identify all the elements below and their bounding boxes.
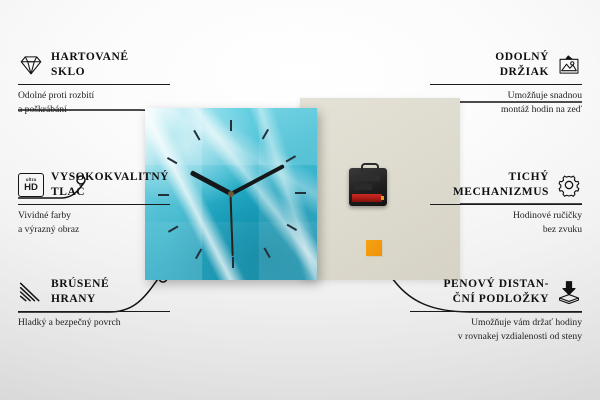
foam-spacer-pad (366, 240, 382, 256)
clock-center-cap (228, 191, 234, 197)
gear-icon (556, 173, 582, 197)
feature-title-line1: ODOLNÝ (495, 51, 549, 63)
feature-silent-mechanism: TICHÝ MECHANIZMUS Hodinové ručičky bez z… (430, 170, 582, 236)
stacked-pads-arrow-icon (556, 280, 582, 304)
feature-desc-line2: a poškrábání (18, 104, 67, 115)
feature-title: PENOVÝ DISTAN- ČNÍ PODLOŽKY (443, 277, 549, 307)
feature-title: VYSOKOKVALITNÝ TLAČ (51, 170, 169, 200)
feature-desc-line1: Odolné proti rozbití (18, 90, 94, 101)
feature-title-line1: HARTOVANÉ (51, 51, 129, 63)
mechanism-slot-lower (354, 184, 372, 190)
feature-desc-line1: Umožňuje vám držať hodiny (471, 317, 582, 328)
feature-desc-line1: Vividné farby (18, 210, 71, 221)
mechanism-slot-upper (354, 175, 380, 181)
feature-desc-line1: Umožňuje snadnou (508, 90, 582, 101)
feature-title-line2: MECHANIZMUS (453, 186, 549, 198)
hatched-edge-icon (18, 280, 44, 304)
feature-divider (430, 204, 582, 205)
feature-divider (410, 311, 582, 312)
feature-title-line1: TICHÝ (509, 171, 549, 183)
feature-divider (430, 84, 582, 85)
feature-divider (18, 84, 170, 85)
aa-battery (352, 194, 382, 202)
feature-foam-spacers: PENOVÝ DISTAN- ČNÍ PODLOŽKY Umožňuje vám… (410, 277, 582, 343)
wall-frame-icon (556, 53, 582, 77)
feature-description: Vividné farby a výrazný obraz (18, 209, 170, 235)
feature-title-line1: BRÚSENÉ (51, 278, 109, 290)
feature-description: Hladký a bezpečný povrch (18, 316, 170, 329)
feature-tempered-glass: HARTOVANÉ SKLO Odolné proti rozbití a po… (18, 50, 170, 116)
ultra-hd-bottom-label: HD (24, 183, 38, 193)
wall-clock-product (145, 108, 317, 280)
feature-description: Umožňuje snadnou montáž hodin na zeď (430, 89, 582, 115)
feature-description: Hodinové ručičky bez zvuku (430, 209, 582, 235)
feature-title: HARTOVANÉ SKLO (51, 50, 129, 80)
feature-title-line1: PENOVÝ DISTAN- (443, 278, 549, 290)
ultra-hd-icon: ultra HD (18, 173, 44, 197)
feature-title-line2: SKLO (51, 66, 85, 78)
feature-desc-line2: v rovnakej vzdialenosti od steny (458, 331, 582, 342)
diamond-icon (18, 53, 44, 77)
feature-desc-line2: a výrazný obraz (18, 224, 79, 235)
feature-title-line2: HRANY (51, 293, 96, 305)
feature-desc-line1: Hodinové ručičky (513, 210, 582, 221)
feature-title: ODOLNÝ DRŽIAK (495, 50, 549, 80)
feature-description: Odolné proti rozbití a poškrábání (18, 89, 170, 115)
feature-title: BRÚSENÉ HRANY (51, 277, 109, 307)
clock-mechanism-module (349, 168, 387, 206)
infographic-stage: HARTOVANÉ SKLO Odolné proti rozbití a po… (0, 0, 600, 400)
feature-title-line2: DRŽIAK (500, 66, 549, 78)
feature-title: TICHÝ MECHANIZMUS (453, 170, 549, 200)
feature-title-line1: VYSOKOKVALITNÝ (51, 171, 169, 183)
feature-polished-edges: BRÚSENÉ HRANY Hladký a bezpečný povrch (18, 277, 170, 330)
feature-desc-line2: montáž hodin na zeď (501, 104, 582, 115)
feature-divider (18, 204, 170, 205)
feature-desc-line2: bez zvuku (543, 224, 582, 235)
feature-desc-line1: Hladký a bezpečný povrch (18, 317, 121, 328)
feature-durable-holder: ODOLNÝ DRŽIAK Umožňuje snadnou montáž ho… (430, 50, 582, 116)
feature-print-quality: ultra HD VYSOKOKVALITNÝ TLAČ Vividné far… (18, 170, 170, 236)
feature-divider (18, 311, 170, 312)
feature-title-line2: TLAČ (51, 186, 85, 198)
feature-title-line2: ČNÍ PODLOŽKY (453, 293, 549, 305)
feature-description: Umožňuje vám držať hodiny v rovnakej vzd… (410, 316, 582, 342)
mechanism-hanger-icon (361, 163, 379, 172)
